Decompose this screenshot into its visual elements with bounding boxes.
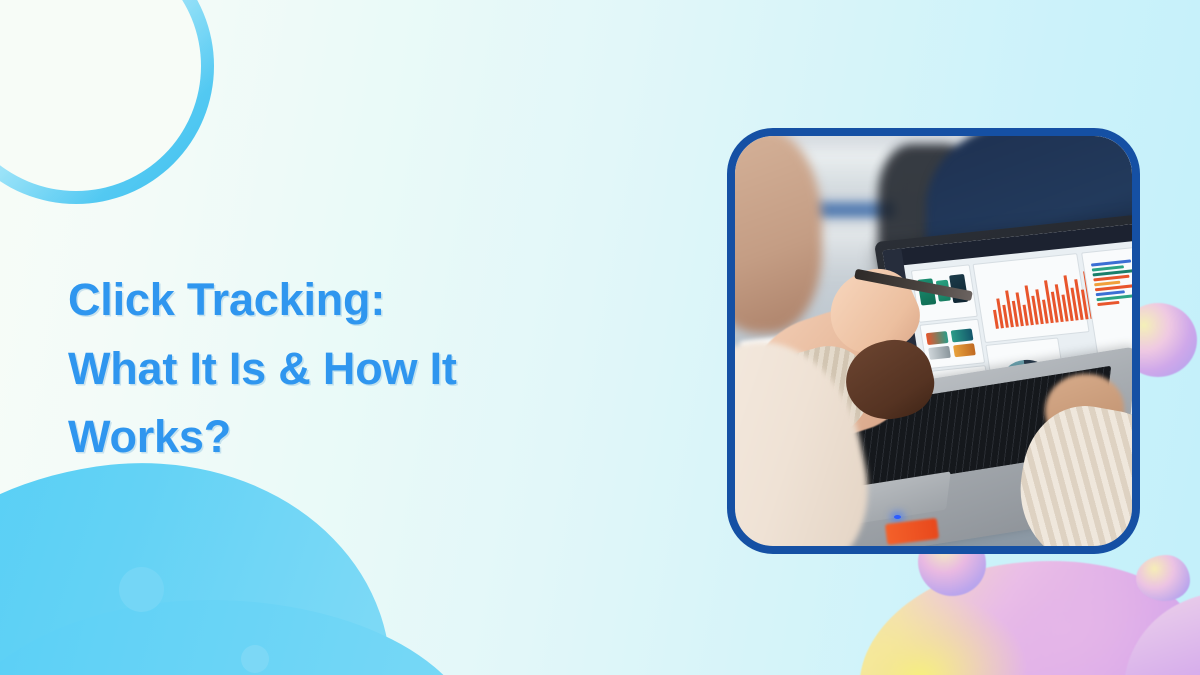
gradient-blob-large bbox=[845, 540, 1200, 675]
dashboard-swatch-2 bbox=[951, 328, 973, 342]
ring-decoration-icon bbox=[0, 0, 214, 204]
page-title-line-3: Works? bbox=[68, 403, 588, 471]
circle-decoration-large-icon bbox=[119, 567, 164, 612]
blob-bottom-left-secondary bbox=[0, 600, 480, 675]
photo-person-foreground-head bbox=[735, 136, 822, 333]
gradient-blob-small-right bbox=[1136, 555, 1190, 601]
blob-bottom-left bbox=[0, 438, 410, 675]
circle-decoration-small-icon bbox=[241, 645, 269, 673]
hero-image bbox=[735, 136, 1132, 546]
page-title: Click Tracking: What It Is & How It Work… bbox=[68, 266, 588, 471]
dashboard-swatch-1 bbox=[926, 331, 948, 345]
dashboard-card-legend bbox=[1081, 245, 1132, 363]
dashboard-legend-list bbox=[1090, 258, 1132, 306]
dashboard-swatch-3 bbox=[928, 346, 950, 360]
page-title-line-2: What It Is & How It bbox=[68, 335, 588, 403]
dashboard-bar-series bbox=[988, 268, 1094, 329]
page-title-line-1: Click Tracking: bbox=[68, 266, 588, 334]
dashboard-swatch-4 bbox=[953, 344, 975, 358]
banner-canvas: Click Tracking: What It Is & How It Work… bbox=[0, 0, 1200, 675]
hero-image-frame bbox=[727, 128, 1140, 554]
gradient-blob-edge-right bbox=[1103, 573, 1200, 675]
dashboard-card-bar-chart bbox=[972, 253, 1089, 343]
